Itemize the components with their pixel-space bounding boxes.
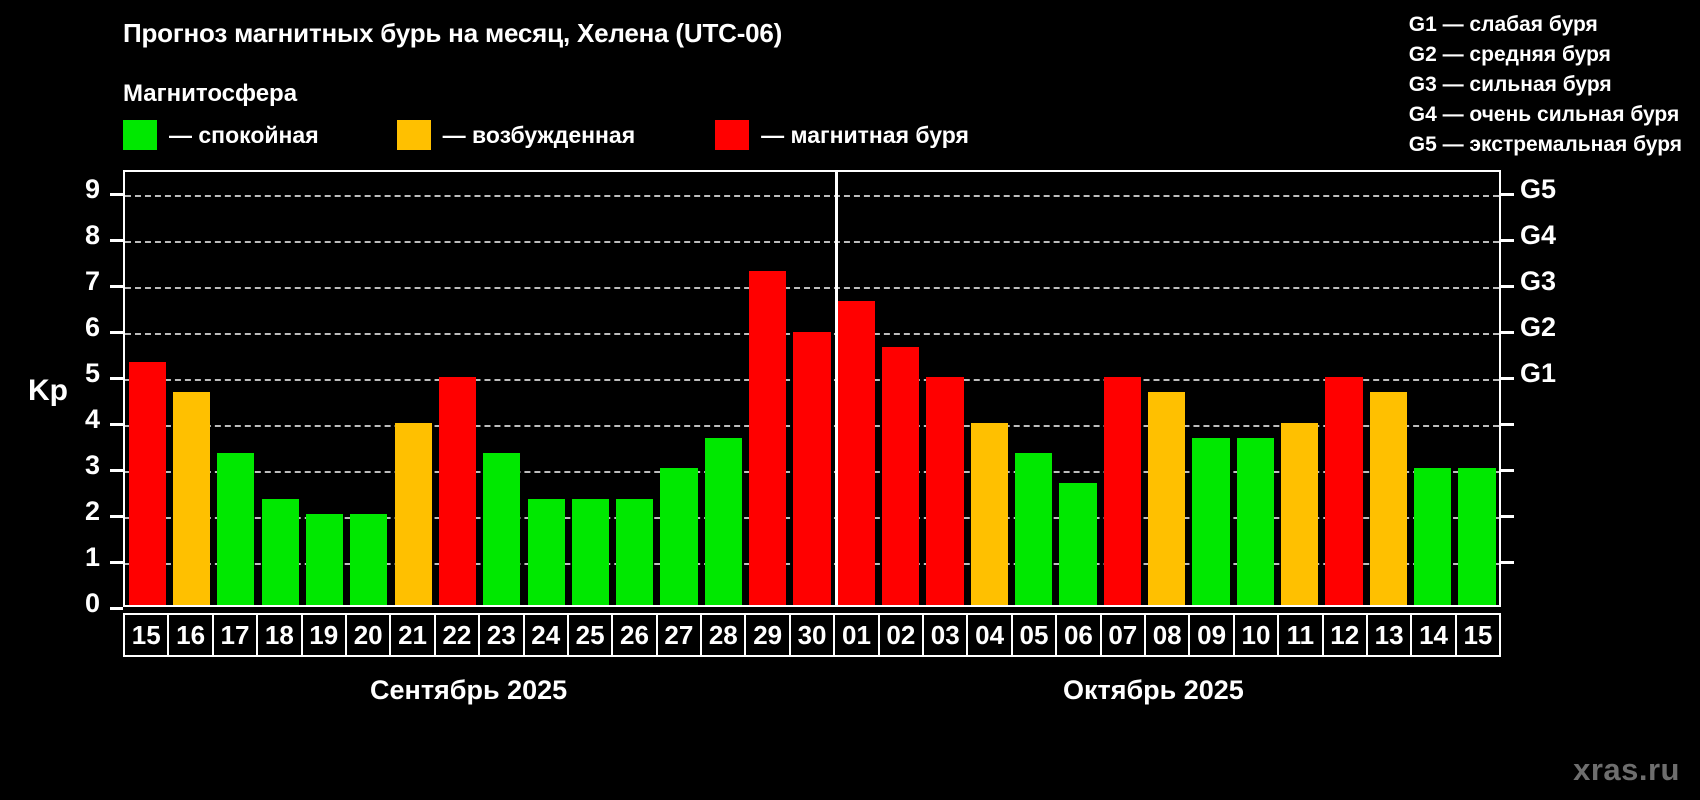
y-tick-mark-3 — [110, 469, 123, 472]
day-label-02[interactable]: 02 — [880, 615, 924, 655]
bar-27 — [660, 468, 697, 605]
bar-cell — [214, 172, 258, 605]
bar-cell — [435, 172, 479, 605]
bar-06 — [1059, 483, 1096, 605]
bar-cell — [657, 172, 701, 605]
g-tick-mark-G1 — [1501, 377, 1514, 380]
y-tick-label-2: 2 — [10, 496, 100, 527]
bar-cell — [1100, 172, 1144, 605]
bar-cell — [169, 172, 213, 605]
bar-10 — [1237, 438, 1274, 605]
g-tick-mark-G2 — [1501, 331, 1514, 334]
legend-label: — спокойная — [169, 122, 319, 149]
g-scale-row-5: G5 — экстремальная буря — [1409, 130, 1682, 160]
day-label-08[interactable]: 08 — [1146, 615, 1190, 655]
day-axis: 1516171819202122232425262728293001020304… — [123, 613, 1501, 657]
bar-02 — [882, 347, 919, 605]
day-label-09[interactable]: 09 — [1190, 615, 1234, 655]
bar-08 — [1148, 392, 1185, 605]
day-label-10[interactable]: 10 — [1235, 615, 1279, 655]
bar-series — [125, 172, 1499, 605]
bar-cell — [701, 172, 745, 605]
g-minor-tick-1 — [1501, 561, 1514, 564]
g-scale-row-3: G3 — сильная буря — [1409, 70, 1682, 100]
day-label-20[interactable]: 20 — [347, 615, 391, 655]
legend-swatch-icon — [397, 120, 431, 150]
y-tick-label-3: 3 — [10, 450, 100, 481]
y-tick-mark-4 — [110, 423, 123, 426]
bar-cell — [1189, 172, 1233, 605]
day-label-18[interactable]: 18 — [258, 615, 302, 655]
bar-26 — [616, 499, 653, 605]
day-label-01[interactable]: 01 — [835, 615, 879, 655]
plot-area — [123, 170, 1501, 607]
bar-18 — [262, 499, 299, 605]
y-tick-label-0: 0 — [10, 588, 100, 619]
day-label-14[interactable]: 14 — [1412, 615, 1456, 655]
y-tick-label-4: 4 — [10, 404, 100, 435]
legend-swatch-icon — [715, 120, 749, 150]
page-title: Прогноз магнитных бурь на месяц, Хелена … — [123, 18, 782, 49]
magnetosphere-legend: — спокойная— возбужденная— магнитная бур… — [123, 120, 969, 150]
y-tick-label-7: 7 — [10, 266, 100, 297]
day-label-30[interactable]: 30 — [791, 615, 835, 655]
day-label-15[interactable]: 15 — [1457, 615, 1499, 655]
g-scale-row-4: G4 — очень сильная буря — [1409, 100, 1682, 130]
day-label-11[interactable]: 11 — [1279, 615, 1323, 655]
day-label-23[interactable]: 23 — [480, 615, 524, 655]
g-minor-tick-2 — [1501, 515, 1514, 518]
y-tick-mark-1 — [110, 561, 123, 564]
y-tick-mark-2 — [110, 515, 123, 518]
day-label-13[interactable]: 13 — [1368, 615, 1412, 655]
bar-14 — [1414, 468, 1451, 605]
day-label-26[interactable]: 26 — [613, 615, 657, 655]
watermark: xras.ru — [1573, 752, 1680, 788]
legend-item-2: — магнитная буря — [715, 120, 969, 150]
bar-16 — [173, 392, 210, 605]
day-label-04[interactable]: 04 — [968, 615, 1012, 655]
bar-23 — [483, 453, 520, 605]
g-tick-mark-G3 — [1501, 285, 1514, 288]
bar-15 — [1458, 468, 1495, 605]
bar-cell — [1012, 172, 1056, 605]
magnetosphere-heading: Магнитосфера — [123, 80, 297, 108]
day-label-15[interactable]: 15 — [125, 615, 169, 655]
bar-15 — [129, 362, 166, 605]
bar-12 — [1325, 377, 1362, 605]
legend-swatch-icon — [123, 120, 157, 150]
g-minor-tick-3 — [1501, 469, 1514, 472]
bar-cell — [967, 172, 1011, 605]
bar-04 — [971, 423, 1008, 605]
bar-29 — [749, 271, 786, 605]
g-tick-mark-G5 — [1501, 193, 1514, 196]
day-label-07[interactable]: 07 — [1102, 615, 1146, 655]
g-tick-label-G5: G5 — [1520, 174, 1600, 205]
bar-cell — [480, 172, 524, 605]
bar-25 — [572, 499, 609, 605]
day-label-03[interactable]: 03 — [924, 615, 968, 655]
bar-19 — [306, 514, 343, 605]
month-caption-1: Октябрь 2025 — [1063, 675, 1244, 706]
g-scale-row-1: G1 — слабая буря — [1409, 10, 1682, 40]
bar-30 — [793, 332, 830, 605]
day-label-24[interactable]: 24 — [525, 615, 569, 655]
bar-cell — [302, 172, 346, 605]
day-label-06[interactable]: 06 — [1057, 615, 1101, 655]
month-caption-0: Сентябрь 2025 — [370, 675, 567, 706]
g-scale-legend: G1 — слабая буряG2 — средняя буряG3 — си… — [1409, 10, 1682, 160]
bar-cell — [1233, 172, 1277, 605]
y-tick-label-1: 1 — [10, 542, 100, 573]
y-tick-label-8: 8 — [10, 220, 100, 251]
y-tick-label-6: 6 — [10, 312, 100, 343]
bar-cell — [258, 172, 302, 605]
bar-cell — [746, 172, 790, 605]
bar-cell — [1455, 172, 1499, 605]
chart-root: Прогноз магнитных бурь на месяц, Хелена … — [0, 0, 1700, 800]
bar-01 — [838, 301, 875, 605]
g-tick-label-G1: G1 — [1520, 358, 1600, 389]
day-label-21[interactable]: 21 — [391, 615, 435, 655]
bar-cell — [568, 172, 612, 605]
bar-cell — [1411, 172, 1455, 605]
bar-cell — [790, 172, 834, 605]
day-label-29[interactable]: 29 — [746, 615, 790, 655]
g-tick-mark-G4 — [1501, 239, 1514, 242]
g-minor-tick-4 — [1501, 423, 1514, 426]
y-tick-mark-8 — [110, 239, 123, 242]
y-tick-mark-6 — [110, 331, 123, 334]
bar-cell — [347, 172, 391, 605]
bar-cell — [1322, 172, 1366, 605]
bar-22 — [439, 377, 476, 605]
g-tick-label-G2: G2 — [1520, 312, 1600, 343]
bar-cell — [923, 172, 967, 605]
bar-09 — [1192, 438, 1229, 605]
bar-17 — [217, 453, 254, 605]
bar-21 — [395, 423, 432, 605]
day-label-19[interactable]: 19 — [303, 615, 347, 655]
y-tick-label-5: 5 — [10, 358, 100, 389]
y-tick-mark-9 — [110, 193, 123, 196]
day-label-22[interactable]: 22 — [436, 615, 480, 655]
bar-05 — [1015, 453, 1052, 605]
day-label-16[interactable]: 16 — [169, 615, 213, 655]
day-label-28[interactable]: 28 — [702, 615, 746, 655]
y-tick-mark-5 — [110, 377, 123, 380]
y-tick-label-9: 9 — [10, 174, 100, 205]
day-label-05[interactable]: 05 — [1013, 615, 1057, 655]
legend-label: — магнитная буря — [761, 122, 969, 149]
legend-item-0: — спокойная — [123, 120, 319, 150]
bar-cell — [1278, 172, 1322, 605]
bar-cell — [613, 172, 657, 605]
g-tick-label-G3: G3 — [1520, 266, 1600, 297]
bar-cell — [1056, 172, 1100, 605]
g-tick-label-G4: G4 — [1520, 220, 1600, 251]
bar-cell — [1145, 172, 1189, 605]
bar-24 — [528, 499, 565, 605]
y-tick-mark-0 — [110, 607, 123, 610]
y-tick-mark-7 — [110, 285, 123, 288]
legend-label: — возбужденная — [443, 122, 636, 149]
bar-28 — [705, 438, 742, 605]
bar-cell — [524, 172, 568, 605]
day-label-12[interactable]: 12 — [1324, 615, 1368, 655]
bar-11 — [1281, 423, 1318, 605]
day-label-25[interactable]: 25 — [569, 615, 613, 655]
bar-cell — [834, 172, 878, 605]
bar-cell — [879, 172, 923, 605]
bar-cell — [1366, 172, 1410, 605]
bar-cell — [391, 172, 435, 605]
bar-13 — [1370, 392, 1407, 605]
plot-frame — [123, 170, 1501, 607]
day-label-27[interactable]: 27 — [658, 615, 702, 655]
bar-07 — [1104, 377, 1141, 605]
bar-20 — [350, 514, 387, 605]
legend-item-1: — возбужденная — [397, 120, 636, 150]
day-label-17[interactable]: 17 — [214, 615, 258, 655]
bar-cell — [125, 172, 169, 605]
bar-03 — [926, 377, 963, 605]
g-scale-row-2: G2 — средняя буря — [1409, 40, 1682, 70]
